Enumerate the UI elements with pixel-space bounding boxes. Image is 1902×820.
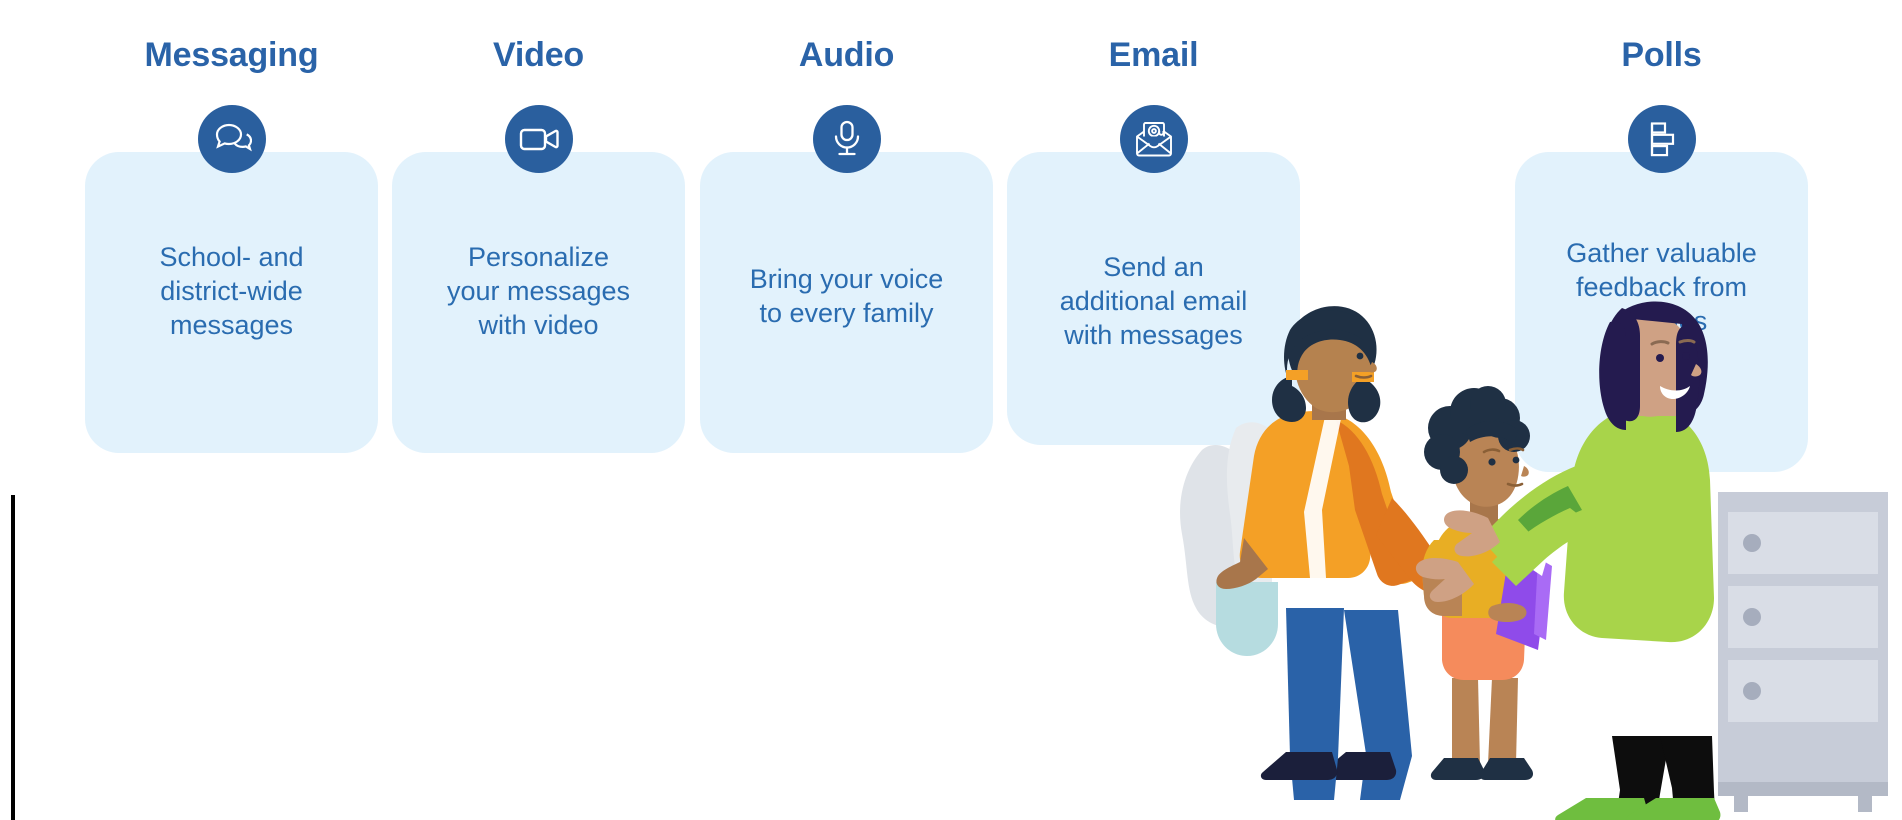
feature-title-polls: Polls (1415, 36, 1902, 75)
microphone-icon (813, 105, 881, 173)
parent-child-teacher-illustration (1140, 300, 1902, 820)
video-camera-icon (505, 105, 573, 173)
left-vertical-rule (11, 495, 15, 820)
bar-chart-poll-icon (1628, 105, 1696, 173)
feature-title-email: Email (1007, 36, 1300, 75)
feature-title-messaging: Messaging (85, 36, 378, 75)
feature-row-slide: Messaging School- and district-wide mess… (0, 0, 1902, 820)
filing-cabinet (1718, 492, 1888, 812)
feature-description-video: Personalize your messages with video (386, 240, 691, 342)
chat-bubbles-icon (198, 105, 266, 173)
feature-title-video: Video (392, 36, 685, 75)
feature-title-audio: Audio (700, 36, 993, 75)
feature-description-messaging: School- and district-wide messages (79, 240, 384, 342)
open-envelope-at-icon (1120, 105, 1188, 173)
feature-description-audio: Bring your voice to every family (694, 262, 999, 330)
